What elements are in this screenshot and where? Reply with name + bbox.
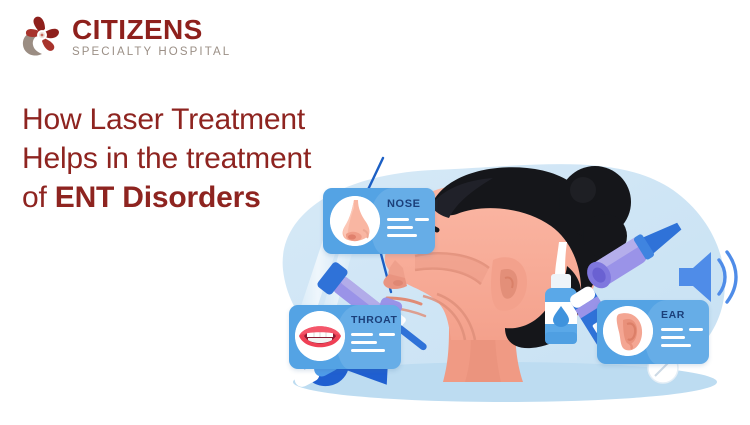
- info-card-ear[interactable]: EAR: [597, 300, 709, 364]
- info-card-nose[interactable]: NOSE: [323, 188, 435, 254]
- card-label-ear: EAR: [661, 309, 685, 321]
- card-text-lines: [387, 218, 429, 242]
- open-mouth-throat-icon: [295, 311, 345, 361]
- brand-logo[interactable]: CITIZENS SPECIALTY HOSPITAL: [18, 14, 231, 60]
- ear-icon: [603, 306, 653, 356]
- pinwheel-flower-logo-icon: [18, 14, 64, 60]
- card-text-lines: [351, 333, 395, 357]
- card-label-throat: THROAT: [351, 314, 398, 326]
- info-card-throat[interactable]: THROAT: [289, 305, 401, 369]
- ent-laser-treatment-banner: CITIZENS SPECIALTY HOSPITAL How Laser Tr…: [0, 0, 750, 425]
- headline-line-1: How Laser Treatment: [22, 100, 422, 139]
- brand-name: CITIZENS: [72, 16, 231, 44]
- brand-tagline: SPECIALTY HOSPITAL: [72, 47, 231, 59]
- card-text-lines: [661, 328, 703, 352]
- headline-emphasis: ENT Disorders: [55, 181, 261, 214]
- brand-logo-text: CITIZENS SPECIALTY HOSPITAL: [72, 16, 231, 59]
- nose-icon: [330, 196, 380, 246]
- headline-line-3-prefix: of: [22, 181, 55, 214]
- card-label-nose: NOSE: [387, 198, 421, 210]
